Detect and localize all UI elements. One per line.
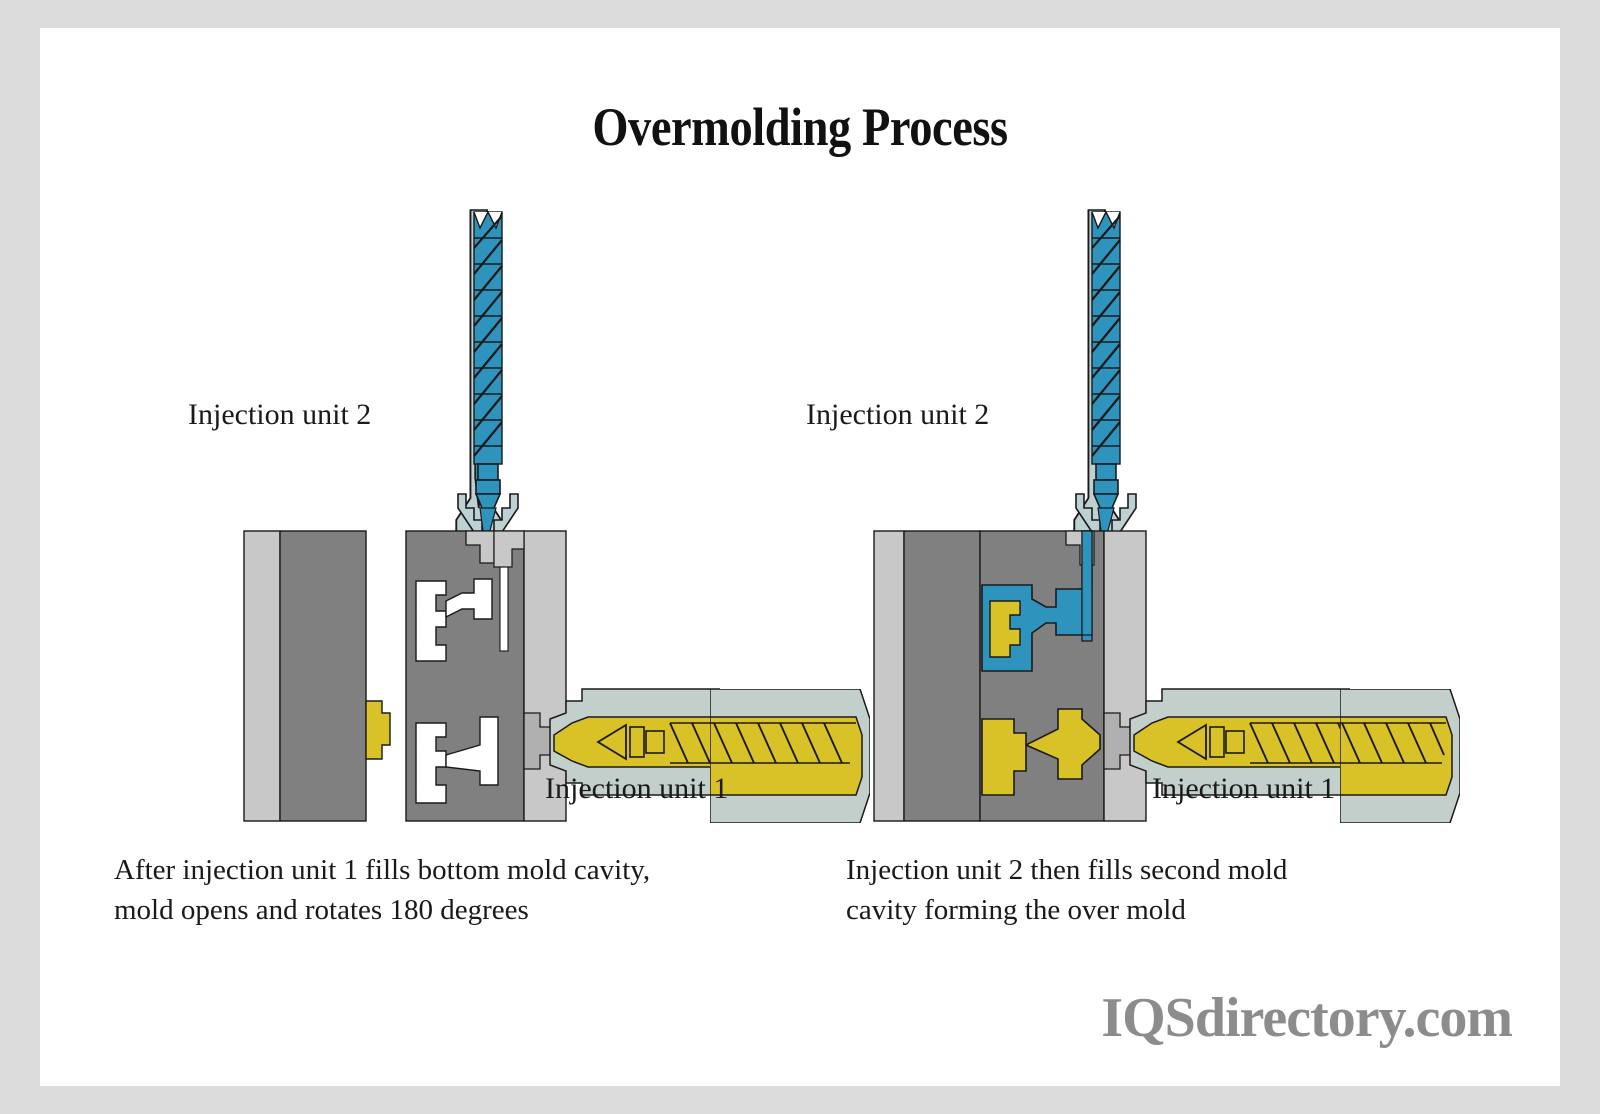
horizontal-unit-label-right: Injection unit 1 xyxy=(1152,772,1335,806)
diagram-canvas: Overmolding Process xyxy=(40,28,1560,1086)
vertical-unit-label-right: Injection unit 2 xyxy=(806,398,989,432)
panel-right: Injection unit 2 xyxy=(40,28,1560,1086)
horizontal-injection-unit-right xyxy=(1340,689,1460,823)
site-logo: IQSdirectory.com xyxy=(1101,986,1512,1050)
vertical-injection-unit-right xyxy=(1028,208,1158,568)
caption-right: Injection unit 2 then fills second mold … xyxy=(846,850,1466,930)
